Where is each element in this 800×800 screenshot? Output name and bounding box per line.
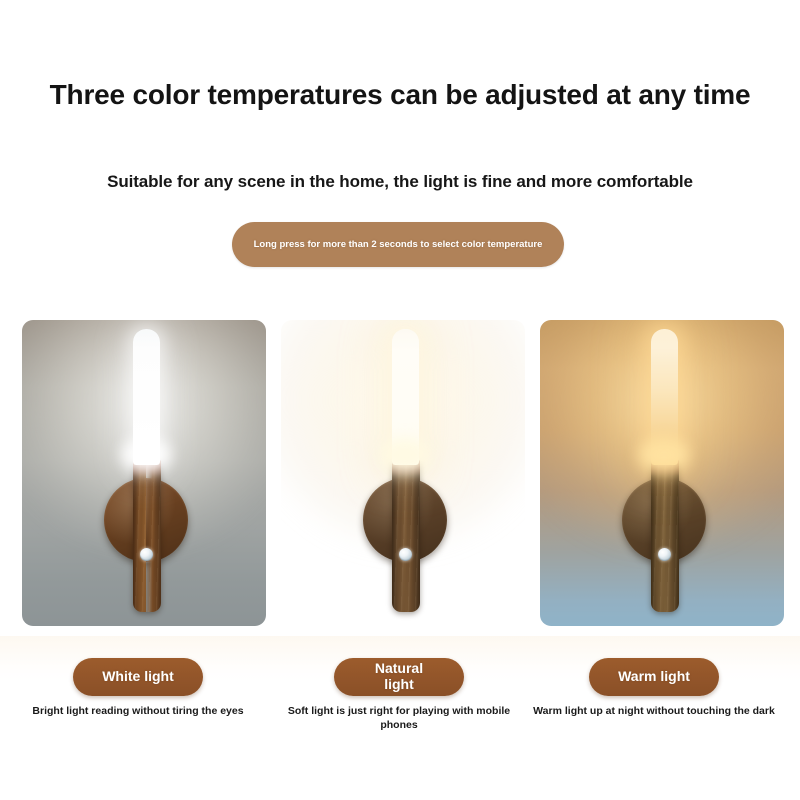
wood-grain-texture [133, 460, 161, 612]
mode-description-natural-light: Soft light is just right for playing wit… [269, 705, 529, 732]
product-photo-gallery [0, 320, 800, 626]
mode-label-text: Natural light [375, 661, 423, 692]
product-photo-warm-light [540, 320, 784, 626]
caption-warm-light: Warm light Warm light up at night withou… [524, 658, 784, 719]
wooden-handle [651, 460, 679, 612]
wall-lamp [345, 320, 465, 626]
motion-sensor-icon [399, 548, 412, 561]
mode-label-text: White light [102, 669, 174, 685]
page-title: Three color temperatures can be adjusted… [45, 78, 755, 113]
light-hotspot [639, 438, 689, 472]
product-feature-page: Three color temperatures can be adjusted… [0, 0, 800, 800]
long-press-instruction-text: Long press for more than 2 seconds to se… [253, 239, 543, 251]
wood-grain-texture [651, 460, 679, 612]
wall-lamp [604, 320, 724, 626]
mode-label-text: Warm light [618, 669, 690, 685]
product-photo-natural-light [281, 320, 525, 626]
mode-description-warm-light: Warm light up at night without touching … [524, 705, 784, 719]
caption-natural-light: Natural light Soft light is just right f… [269, 658, 529, 732]
light-hotspot [121, 438, 171, 472]
long-press-instruction-banner: Long press for more than 2 seconds to se… [232, 222, 564, 267]
mode-description-white-light: Bright light reading without tiring the … [8, 705, 268, 719]
wooden-handle [392, 460, 420, 612]
mode-label-natural-light: Natural light [334, 658, 464, 696]
motion-sensor-icon [658, 548, 671, 561]
wood-grain-texture [392, 460, 420, 612]
caption-white-light: White light Bright light reading without… [8, 658, 268, 719]
mode-label-white-light: White light [73, 658, 203, 696]
light-hotspot [380, 438, 430, 472]
product-photo-white-light [22, 320, 266, 626]
page-subtitle: Suitable for any scene in the home, the … [30, 172, 770, 192]
mode-label-warm-light: Warm light [589, 658, 719, 696]
wooden-handle [133, 460, 161, 612]
wall-lamp [86, 320, 206, 626]
motion-sensor-icon [140, 548, 153, 561]
